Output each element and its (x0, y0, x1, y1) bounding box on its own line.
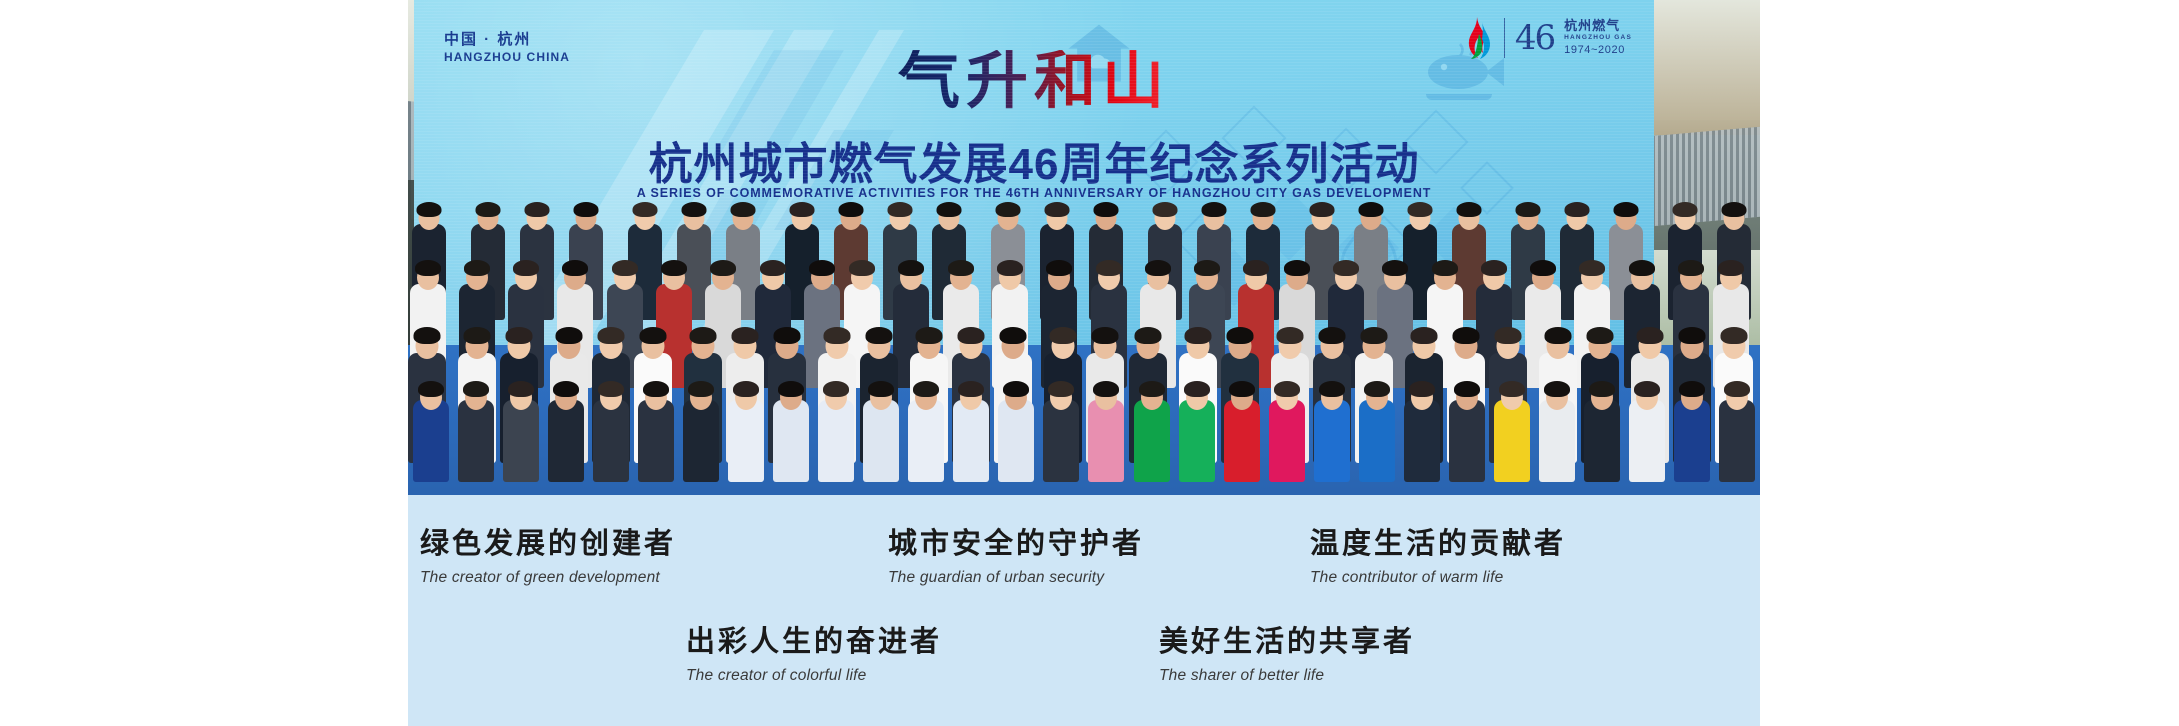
person-hair (1318, 327, 1345, 344)
person-hair (1229, 381, 1255, 397)
person-body (773, 400, 809, 482)
person-hair (1360, 327, 1387, 344)
person-body (503, 400, 539, 482)
person-hair (1000, 327, 1027, 344)
slogan-row-1: 绿色发展的创建者 The creator of green developmen… (408, 527, 1760, 587)
person (543, 366, 588, 495)
person-hair (996, 202, 1021, 217)
person-hair (1319, 381, 1345, 397)
person-body (683, 400, 719, 482)
person-hair (1452, 327, 1479, 344)
person-hair (508, 381, 534, 397)
person (678, 366, 723, 495)
person-hair (1516, 202, 1541, 217)
person-hair (898, 260, 924, 276)
brand-name-en: HANGZHOU GAS (1564, 34, 1632, 42)
person-body (1584, 400, 1620, 482)
person-hair (1629, 260, 1655, 276)
person-hair (1048, 381, 1074, 397)
person-hair (476, 202, 501, 217)
person-hair (1408, 202, 1433, 217)
person-hair (1202, 202, 1227, 217)
person (769, 366, 814, 495)
person-hair (1673, 202, 1698, 217)
person-hair (1409, 381, 1435, 397)
person (1399, 366, 1444, 495)
person-hair (710, 260, 736, 276)
slogan-en: The contributor of warm life (1310, 569, 1640, 587)
person-hair (948, 260, 974, 276)
person-body (1088, 400, 1124, 482)
person (814, 366, 859, 495)
person-hair (1454, 381, 1480, 397)
person (1309, 366, 1354, 495)
person-body (908, 400, 944, 482)
person-body (413, 400, 449, 482)
person-hair (553, 381, 579, 397)
person-hair (555, 327, 582, 344)
crowd-row-front (408, 366, 1760, 495)
person (588, 366, 633, 495)
person (949, 366, 994, 495)
person (1039, 366, 1084, 495)
person-hair (1364, 381, 1390, 397)
person-hair (1251, 202, 1276, 217)
slogan-cn: 出彩人生的奋进者 (686, 625, 1016, 658)
person-hair (1495, 327, 1522, 344)
person-hair (661, 260, 687, 276)
person-hair (463, 327, 490, 344)
person-body (1719, 400, 1755, 482)
person-hair (1243, 260, 1269, 276)
person-hair (1050, 327, 1077, 344)
person-hair (1545, 327, 1572, 344)
person-hair (633, 202, 658, 217)
person (633, 366, 678, 495)
person (498, 366, 543, 495)
person-body (1179, 400, 1215, 482)
person-hair (790, 202, 815, 217)
person-hair (1481, 260, 1507, 276)
person-hair (1092, 327, 1119, 344)
person-hair (1094, 202, 1119, 217)
person-hair (1565, 202, 1590, 217)
anniversary-poster: 中国 · 杭州 HANGZHOU CHINA 46 杭州燃气 HANGZHOU … (408, 0, 1760, 726)
person-hair (1432, 260, 1458, 276)
person-hair (823, 381, 849, 397)
person-hair (598, 381, 624, 397)
person-body (638, 400, 674, 482)
person-hair (417, 202, 442, 217)
slogan-item: 绿色发展的创建者 The creator of green developmen… (420, 527, 780, 587)
person-hair (1134, 327, 1161, 344)
person-body (1539, 400, 1575, 482)
person-hair (1530, 260, 1556, 276)
slogan-en: The creator of colorful life (686, 667, 1016, 685)
person-hair (1678, 260, 1704, 276)
person-hair (1637, 327, 1664, 344)
person-hair (1145, 260, 1171, 276)
person-hair (1045, 202, 1070, 217)
person-hair (1276, 327, 1303, 344)
person (994, 366, 1039, 495)
person-hair (463, 381, 489, 397)
person-hair (1139, 381, 1165, 397)
person-body (458, 400, 494, 482)
crowd-of-people (408, 170, 1760, 495)
person-hair (774, 327, 801, 344)
person (1264, 366, 1309, 495)
person-hair (1679, 381, 1705, 397)
person-hair (1718, 260, 1744, 276)
person-body (593, 400, 629, 482)
person-hair (464, 260, 490, 276)
person-hair (888, 202, 913, 217)
slogan-cn: 美好生活的共享者 (1159, 625, 1489, 658)
person-hair (1679, 327, 1706, 344)
slogan-en: The creator of green development (420, 569, 780, 587)
person-hair (1614, 202, 1639, 217)
page-root: 中国 · 杭州 HANGZHOU CHINA 46 杭州燃气 HANGZHOU … (0, 0, 2179, 726)
person-body (863, 400, 899, 482)
person-body (1224, 400, 1260, 482)
person-hair (731, 202, 756, 217)
person (1625, 366, 1670, 495)
person-hair (731, 327, 758, 344)
person-hair (1274, 381, 1300, 397)
slogan-item: 出彩人生的奋进者 The creator of colorful life (686, 625, 1016, 685)
person (1129, 366, 1174, 495)
art-logo: 气升和山 (414, 50, 1654, 112)
person-hair (597, 327, 624, 344)
person-hair (415, 260, 441, 276)
person-hair (1724, 381, 1750, 397)
person-hair (1499, 381, 1525, 397)
person-body (1494, 400, 1530, 482)
person (408, 366, 453, 495)
person-hair (1457, 202, 1482, 217)
person (1354, 366, 1399, 495)
person-hair (1722, 202, 1747, 217)
person-body (728, 400, 764, 482)
person-hair (1284, 260, 1310, 276)
person (904, 366, 949, 495)
person (1219, 366, 1264, 495)
person-hair (562, 260, 588, 276)
person-hair (1333, 260, 1359, 276)
slogan-en: The guardian of urban security (888, 569, 1218, 587)
person-hair (760, 260, 786, 276)
person-hair (733, 381, 759, 397)
person-hair (1003, 381, 1029, 397)
person-hair (688, 381, 714, 397)
person (1535, 366, 1580, 495)
person (453, 366, 498, 495)
person (1580, 366, 1625, 495)
person (1670, 366, 1715, 495)
person-hair (958, 381, 984, 397)
person-body (998, 400, 1034, 482)
person-hair (1382, 260, 1408, 276)
person-hair (574, 202, 599, 217)
person-body (1449, 400, 1485, 482)
person-hair (1410, 327, 1437, 344)
person (1490, 366, 1535, 495)
person-hair (849, 260, 875, 276)
person-hair (1096, 260, 1122, 276)
person (1444, 366, 1489, 495)
person (1084, 366, 1129, 495)
person-hair (937, 202, 962, 217)
person-hair (868, 381, 894, 397)
brand-name-cn: 杭州燃气 (1564, 18, 1632, 34)
art-logo-text: 气升和山 (898, 50, 1170, 112)
person-hair (1184, 381, 1210, 397)
person-hair (418, 381, 444, 397)
person-hair (612, 260, 638, 276)
person-hair (413, 327, 440, 344)
person-hair (1184, 327, 1211, 344)
person-body (1404, 400, 1440, 482)
person-hair (513, 260, 539, 276)
person-hair (1226, 327, 1253, 344)
person-body (1043, 400, 1079, 482)
person-hair (689, 327, 716, 344)
person-hair (682, 202, 707, 217)
person-hair (916, 327, 943, 344)
person-hair (643, 381, 669, 397)
slogan-item: 美好生活的共享者 The sharer of better life (1159, 625, 1489, 685)
slogan-item: 温度生活的贡献者 The contributor of warm life (1310, 527, 1640, 587)
person-hair (1721, 327, 1748, 344)
person-hair (1359, 202, 1384, 217)
person-hair (1046, 260, 1072, 276)
person-body (1134, 400, 1170, 482)
person (723, 366, 768, 495)
person-hair (839, 202, 864, 217)
person-hair (824, 327, 851, 344)
person-hair (525, 202, 550, 217)
person-body (1269, 400, 1305, 482)
person-body (1314, 400, 1350, 482)
slogan-row-2: 出彩人生的奋进者 The creator of colorful life 美好… (408, 625, 1760, 685)
person-hair (913, 381, 939, 397)
person-hair (639, 327, 666, 344)
person-hair (778, 381, 804, 397)
slogan-cn: 绿色发展的创建者 (420, 527, 780, 560)
person-body (818, 400, 854, 482)
person-hair (809, 260, 835, 276)
person-body (1629, 400, 1665, 482)
person-hair (958, 327, 985, 344)
person-hair (1544, 381, 1570, 397)
person-body (548, 400, 584, 482)
slogan-panel: 绿色发展的创建者 The creator of green developmen… (408, 495, 1760, 726)
slogan-cn: 城市安全的守护者 (888, 527, 1218, 560)
person-hair (866, 327, 893, 344)
person-hair (997, 260, 1023, 276)
group-photo: 中国 · 杭州 HANGZHOU CHINA 46 杭州燃气 HANGZHOU … (408, 0, 1760, 495)
person-hair (1634, 381, 1660, 397)
person-hair (505, 327, 532, 344)
person-body (1359, 400, 1395, 482)
person-hair (1579, 260, 1605, 276)
slogan-item: 城市安全的守护者 The guardian of urban security (888, 527, 1218, 587)
person (1174, 366, 1219, 495)
slogan-en: The sharer of better life (1159, 667, 1489, 685)
slogan-cn: 温度生活的贡献者 (1310, 527, 1640, 560)
person-hair (1587, 327, 1614, 344)
location-cn: 中国 · 杭州 (444, 28, 531, 49)
person-hair (1153, 202, 1178, 217)
person (1715, 366, 1760, 495)
person-hair (1194, 260, 1220, 276)
person-hair (1093, 381, 1119, 397)
person-body (953, 400, 989, 482)
person-hair (1310, 202, 1335, 217)
person (859, 366, 904, 495)
person-body (1674, 400, 1710, 482)
person-hair (1589, 381, 1615, 397)
